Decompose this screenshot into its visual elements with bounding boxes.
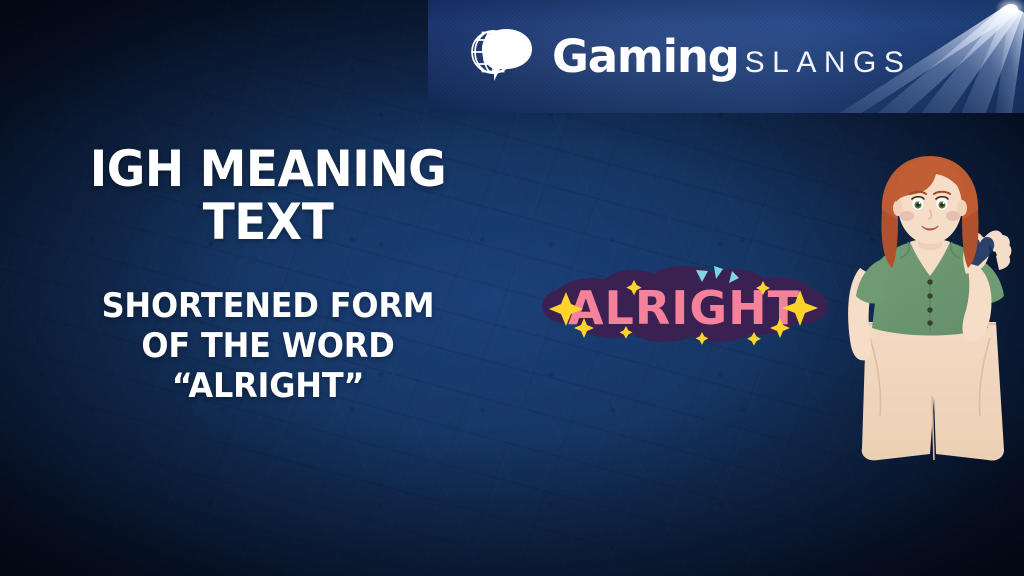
character-cheek-left <box>900 211 914 221</box>
character-sleeve-left <box>856 260 886 303</box>
page-title: IGH MEANING TEXT <box>24 143 513 248</box>
headline-block: IGH MEANING TEXT SHORTENED FORM OF THE W… <box>8 143 528 406</box>
logo-wordmark: Gaming SLANGS <box>552 34 911 79</box>
subtitle-line-2: OF THE WORD <box>24 326 513 366</box>
globe-speech-bubble-icon <box>468 25 538 87</box>
character-shorts <box>862 322 1004 461</box>
logo-banner: Gaming SLANGS <box>428 0 1024 113</box>
logo-lockup[interactable]: Gaming SLANGS <box>468 18 911 94</box>
logo-brand-secondary: SLANGS <box>745 48 912 78</box>
page-subtitle: SHORTENED FORM OF THE WORD “ALRIGHT” <box>24 286 513 406</box>
slang-definition-graphic: Gaming SLANGS IGH MEANING TEXT SHORTENED… <box>0 0 1024 576</box>
logo-brand-primary: Gaming <box>552 34 739 79</box>
subtitle-line-3: “ALRIGHT” <box>24 366 513 406</box>
subtitle-line-1: SHORTENED FORM <box>24 286 513 326</box>
character-cheek-right <box>946 211 960 221</box>
alright-sticker: ALRIGHT <box>534 256 834 352</box>
woman-ok-gesture-illustration <box>838 150 1024 495</box>
